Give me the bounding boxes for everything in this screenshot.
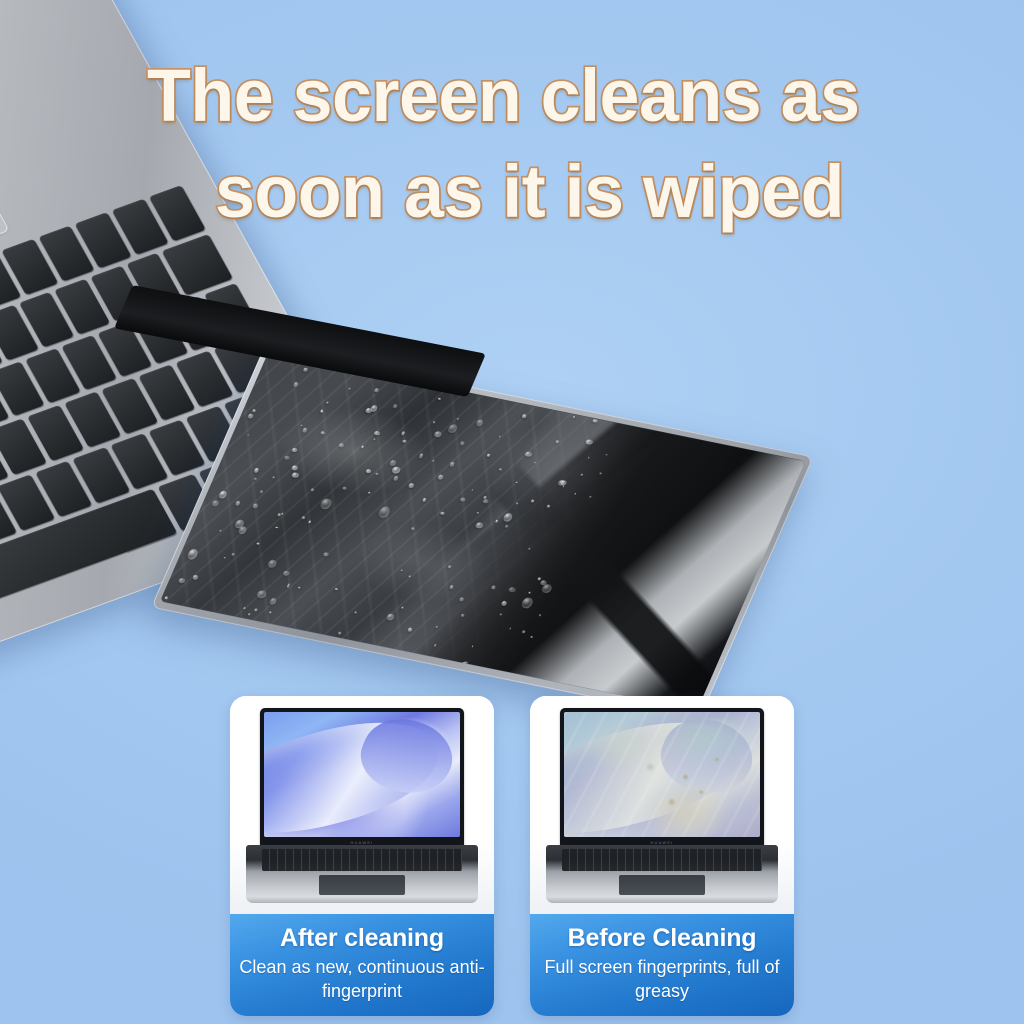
hero-laptop-illustration bbox=[0, 0, 930, 730]
mini-laptop-base bbox=[546, 845, 778, 903]
card-before-cleaning[interactable]: HUAWEI Before Cleaning Full screen finge… bbox=[530, 696, 794, 1016]
mini-laptop-after: HUAWEI bbox=[246, 708, 478, 903]
banner-canvas: The screen cleans as soon as it is wiped… bbox=[0, 0, 1024, 1024]
mini-keyboard bbox=[562, 849, 762, 871]
mini-trackpad bbox=[319, 875, 405, 895]
card-after-photo: HUAWEI bbox=[230, 696, 494, 914]
card-before-description: Full screen fingerprints, full of greasy bbox=[538, 955, 786, 1003]
comparison-cards: HUAWEI After cleaning Clean as new, cont… bbox=[0, 696, 1024, 1016]
card-after-description: Clean as new, continuous anti-fingerprin… bbox=[238, 955, 486, 1003]
mini-trackpad bbox=[619, 875, 705, 895]
mini-laptop-foot bbox=[246, 896, 478, 903]
card-before-photo: HUAWEI bbox=[530, 696, 794, 914]
mini-laptop-base bbox=[246, 845, 478, 903]
mini-laptop-lid: HUAWEI bbox=[560, 708, 764, 846]
mini-screen-clean bbox=[264, 712, 460, 837]
grease-smear-overlay bbox=[564, 712, 760, 837]
mini-laptop-lid: HUAWEI bbox=[260, 708, 464, 846]
card-after-title: After cleaning bbox=[238, 923, 486, 953]
card-before-title: Before Cleaning bbox=[538, 923, 786, 953]
card-before-label: Before Cleaning Full screen fingerprints… bbox=[530, 914, 794, 1016]
hero-laptop-screen bbox=[151, 345, 814, 719]
card-after-cleaning[interactable]: HUAWEI After cleaning Clean as new, cont… bbox=[230, 696, 494, 1016]
mini-laptop-foot bbox=[546, 896, 778, 903]
screen-sheen bbox=[160, 352, 805, 711]
mini-keyboard bbox=[262, 849, 462, 871]
mini-laptop-before: HUAWEI bbox=[546, 708, 778, 903]
hero-screen-glass bbox=[160, 352, 805, 711]
mini-screen-greasy bbox=[564, 712, 760, 837]
card-after-label: After cleaning Clean as new, continuous … bbox=[230, 914, 494, 1016]
